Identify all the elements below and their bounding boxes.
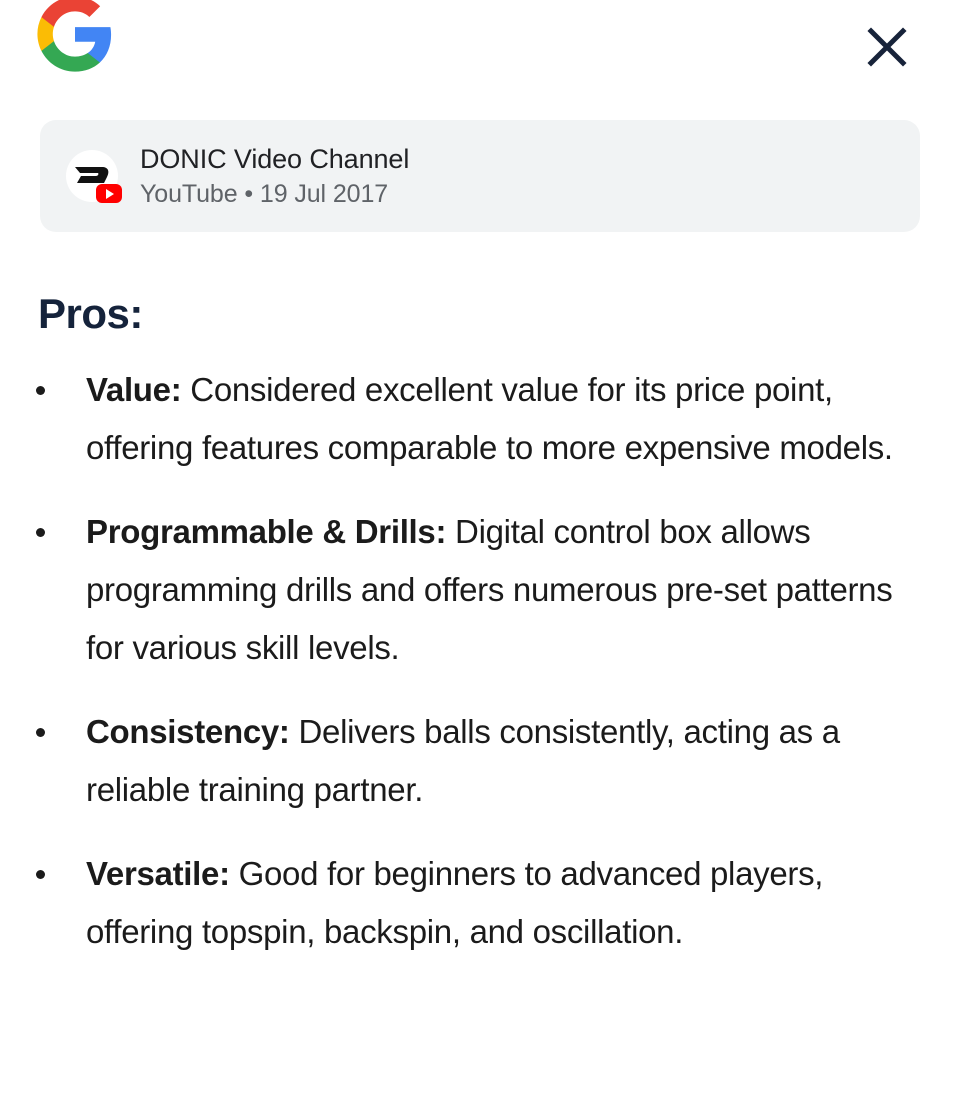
close-button[interactable] [858,18,916,76]
list-item-lead: Value: [86,371,181,408]
bullet-icon [36,386,45,395]
donic-channel-avatar [66,150,118,202]
list-item: Value: Considered excellent value for it… [0,361,960,477]
list-item: Versatile: Good for beginners to advance… [0,845,960,961]
list-item: Programmable & Drills: Digital control b… [0,503,960,677]
list-item: Consistency: Delivers balls consistently… [0,703,960,819]
source-title: DONIC Video Channel [140,143,409,176]
answer-content: Pros: Value: Considered excellent value … [0,232,960,961]
source-text: DONIC Video Channel YouTube • 19 Jul 201… [140,143,409,210]
app-header [0,0,960,104]
list-item-lead: Versatile: [86,855,230,892]
list-item-lead: Programmable & Drills: [86,513,446,550]
close-icon [865,25,909,69]
youtube-play-badge-icon [96,184,122,203]
google-logo-icon [34,0,116,78]
bullet-icon [36,728,45,737]
source-meta: YouTube • 19 Jul 2017 [140,178,409,210]
bullet-icon [36,528,45,537]
list-item-lead: Consistency: [86,713,290,750]
list-item-text: Considered excellent value for its price… [86,371,893,466]
page-title: Pros: [38,289,960,339]
source-card[interactable]: DONIC Video Channel YouTube • 19 Jul 201… [40,120,920,232]
bullet-icon [36,870,45,879]
pros-list: Value: Considered excellent value for it… [0,361,960,961]
